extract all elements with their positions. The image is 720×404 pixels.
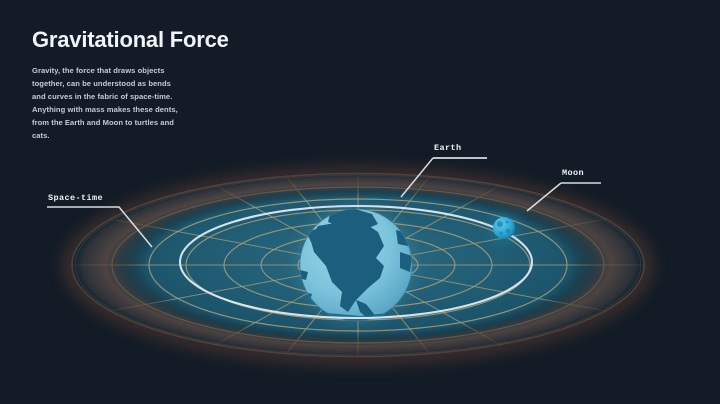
- label-moon: Moon: [562, 168, 584, 178]
- text-block: Gravitational Force Gravity, the force t…: [32, 28, 272, 142]
- moon-globe: [490, 214, 518, 242]
- label-space-time: Space-time: [48, 193, 103, 203]
- description-paragraph: Gravity, the force that draws objects to…: [32, 64, 184, 142]
- moon-body: [493, 217, 515, 239]
- page-title: Gravitational Force: [32, 28, 272, 52]
- slide-canvas: Gravitational Force Gravity, the force t…: [0, 0, 720, 404]
- label-earth: Earth: [434, 143, 462, 153]
